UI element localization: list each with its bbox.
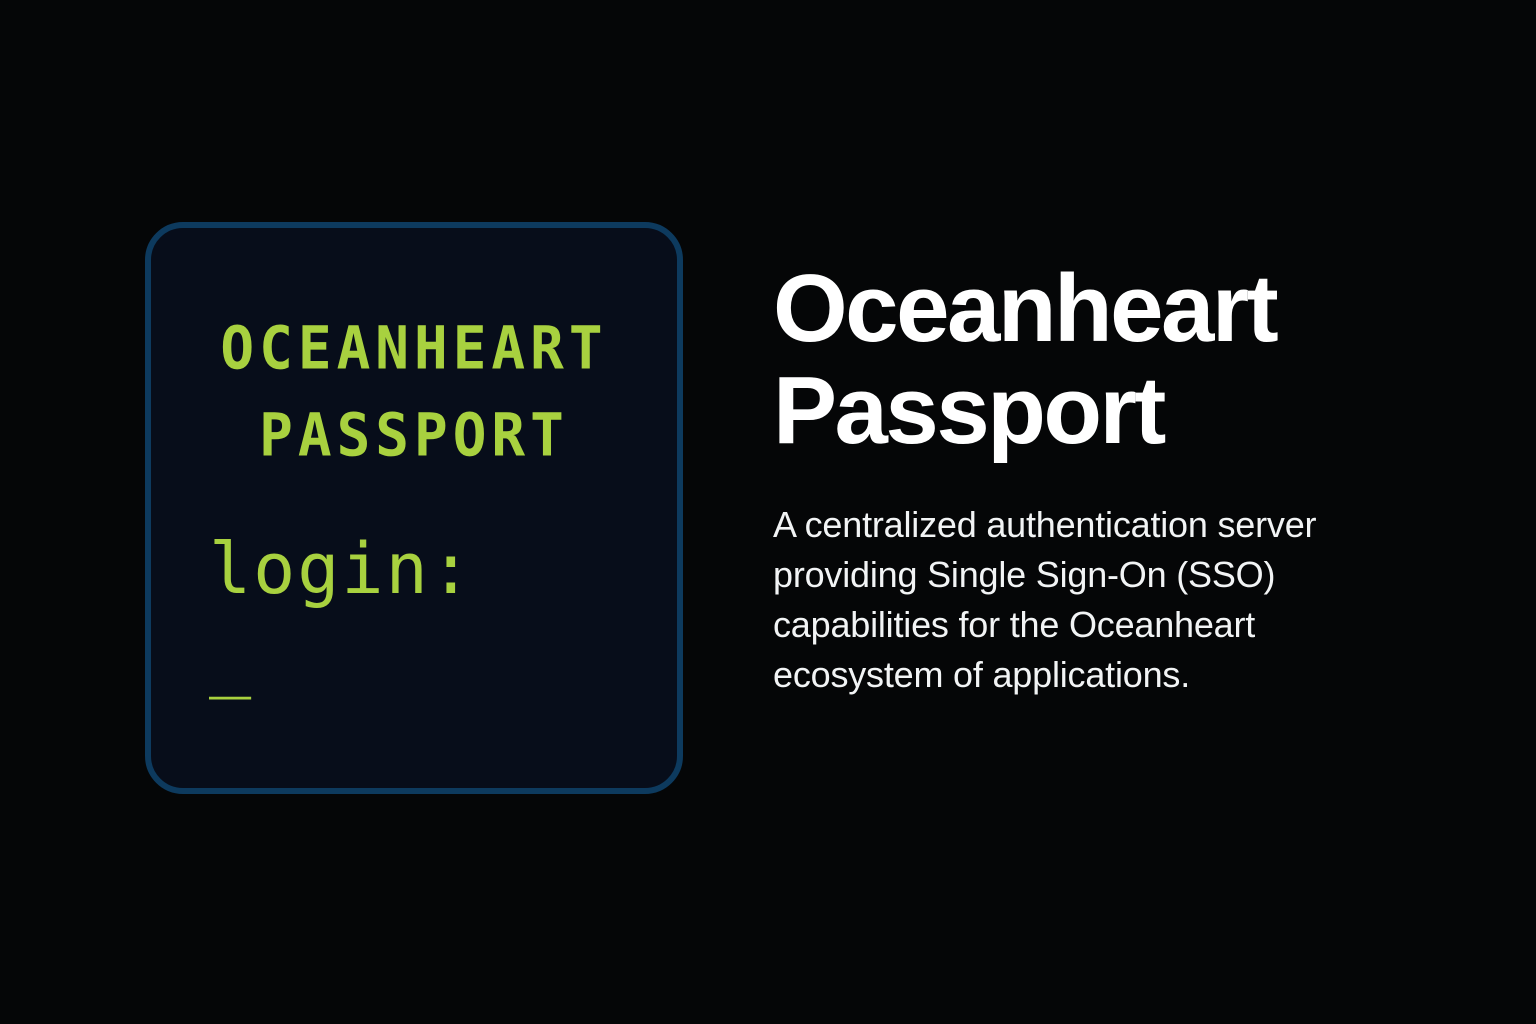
terminal-cursor: _ xyxy=(209,620,253,698)
terminal-banner-line-1: OCEANHEART xyxy=(151,306,677,393)
page-title-line-1: Oceanheart xyxy=(773,255,1276,362)
terminal-banner-line-2: PASSPORT xyxy=(151,393,677,480)
page-title-line-2: Passport xyxy=(773,357,1164,464)
terminal-login-card: OCEANHEART PASSPORT login: _ xyxy=(145,222,683,794)
terminal-banner: OCEANHEART PASSPORT xyxy=(151,306,677,480)
product-info-column: OceanheartPassport A centralized authent… xyxy=(773,258,1413,700)
page-title: OceanheartPassport xyxy=(773,258,1413,462)
page-root: OCEANHEART PASSPORT login: _ OceanheartP… xyxy=(0,0,1536,1024)
product-description: A centralized authentication server prov… xyxy=(773,462,1383,700)
terminal-login-prompt: login: xyxy=(209,530,474,608)
terminal-screen: OCEANHEART PASSPORT login: _ xyxy=(151,228,677,788)
